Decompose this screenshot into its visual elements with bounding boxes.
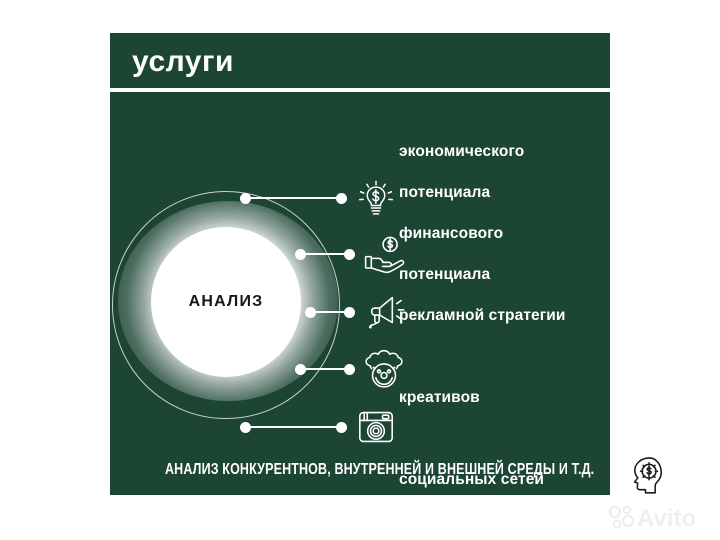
list-item-label: финансового — [399, 213, 610, 254]
svg-text:Avito: Avito — [637, 505, 696, 532]
page-canvas: услуги АНАЛИЗ — [0, 0, 720, 540]
list-item — [240, 175, 399, 221]
connector-line — [306, 368, 344, 370]
list-item — [295, 231, 407, 277]
connector-dot-end — [336, 422, 347, 433]
services-poster: услуги АНАЛИЗ — [110, 33, 610, 495]
connector-dot-start — [295, 364, 306, 375]
list-item-label: рекламной стратегии — [399, 295, 610, 336]
connector-line — [251, 426, 336, 428]
connector-medium — [295, 249, 355, 260]
header-divider — [110, 88, 610, 92]
camera-instagram-icon — [353, 404, 399, 450]
connector-dot-end — [336, 193, 347, 204]
connector-long — [240, 193, 347, 204]
list-item — [240, 404, 399, 450]
avito-watermark: Avito — [607, 502, 711, 532]
poster-header: услуги — [110, 33, 610, 88]
list-item — [295, 346, 407, 392]
list-item-label: потенциала — [399, 254, 610, 295]
connector-medium — [295, 364, 355, 375]
list-item-label: социальных сетей — [399, 459, 610, 495]
connector-long — [240, 422, 347, 433]
connector-line — [306, 253, 344, 255]
connector-dot-start — [240, 422, 251, 433]
connector-line — [316, 311, 344, 313]
connector-dot-end — [344, 364, 355, 375]
page-title: услуги — [132, 43, 234, 81]
list-item-label-spacer — [399, 336, 610, 377]
list-item-label: экономического — [399, 131, 610, 172]
connector-dot-start — [240, 193, 251, 204]
lightbulb-dollar-icon — [353, 175, 399, 221]
connector-short — [305, 307, 355, 318]
head-gear-brain-icon — [622, 452, 666, 496]
list-item-label-spacer — [399, 418, 610, 459]
connector-dot-end — [344, 249, 355, 260]
connector-dot-end — [344, 307, 355, 318]
list-item — [305, 289, 407, 335]
services-label-list: экономического потенциала финансового по… — [399, 131, 610, 495]
connector-dot-start — [295, 249, 306, 260]
connector-dot-start — [305, 307, 316, 318]
list-item-label: потенциала — [399, 172, 610, 213]
list-item-label: креативов — [399, 377, 610, 418]
connector-line — [251, 197, 336, 199]
